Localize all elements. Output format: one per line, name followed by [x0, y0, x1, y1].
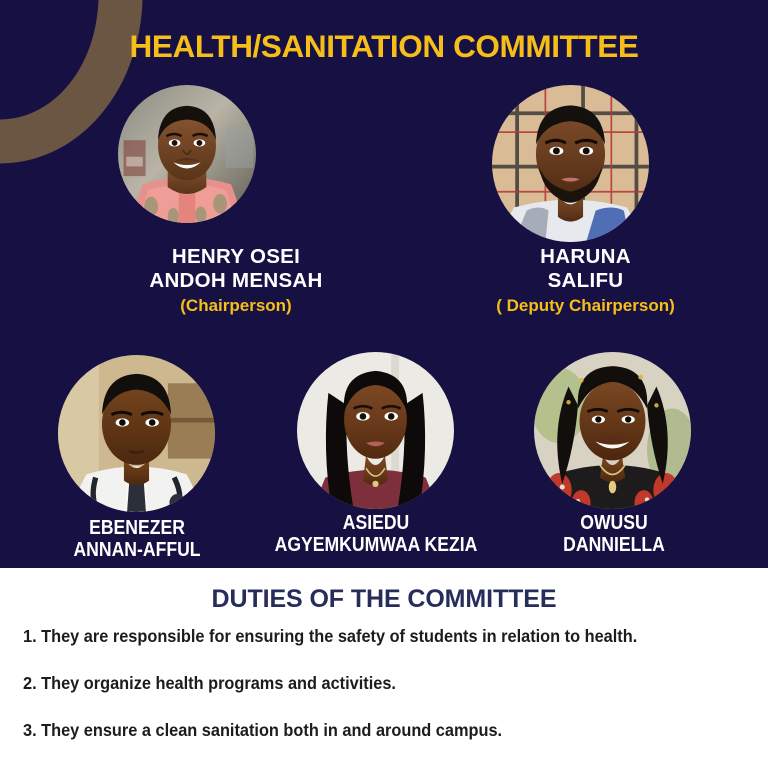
- member-name-line2: SALIFU: [443, 269, 728, 293]
- avatar: [534, 352, 691, 509]
- duty-item: 1. They are responsible for ensuring the…: [23, 626, 717, 647]
- member-name-line1: ASIEDU: [243, 512, 509, 534]
- avatar: [58, 355, 215, 512]
- duty-item: 2. They organize health programs and act…: [23, 673, 717, 694]
- avatar: [297, 352, 454, 509]
- member-name-line2: ANDOH MENSAH: [65, 269, 407, 293]
- member-name-block: OWUSU DANNIELLA: [505, 512, 723, 556]
- member-role: (Chairperson): [65, 296, 407, 316]
- member-role: ( Deputy Chairperson): [443, 296, 728, 316]
- avatar: [118, 85, 256, 223]
- committee-poster: HEALTH/SANITATION COMMITTEE: [0, 0, 768, 768]
- member-name-line1: OWUSU: [518, 512, 710, 534]
- duties-heading: DUTIES OF THE COMMITTEE: [0, 585, 768, 614]
- avatar: [492, 85, 649, 242]
- member-name-line2: DANNIELLA: [518, 534, 710, 556]
- member-name-block: HENRY OSEI ANDOH MENSAH (Chairperson): [65, 245, 407, 315]
- duties-section: DUTIES OF THE COMMITTEE 1. They are resp…: [0, 568, 768, 768]
- member-name-block: ASIEDU AGYEMKUMWAA KEZIA: [225, 512, 527, 556]
- member-name-line1: HARUNA: [443, 245, 728, 269]
- member-name-line1: HENRY OSEI: [65, 245, 407, 269]
- member-name-block: HARUNA SALIFU ( Deputy Chairperson): [443, 245, 728, 315]
- page-title: HEALTH/SANITATION COMMITTEE: [0, 28, 768, 65]
- navy-section: HEALTH/SANITATION COMMITTEE: [0, 0, 768, 568]
- member-name-line2: AGYEMKUMWAA KEZIA: [243, 534, 509, 556]
- member-name-block: EBENEZER ANNAN-AFFUL: [26, 517, 248, 561]
- member-name-line1: EBENEZER: [39, 517, 234, 539]
- duty-item: 3. They ensure a clean sanitation both i…: [23, 720, 717, 741]
- member-name-line2: ANNAN-AFFUL: [39, 539, 234, 561]
